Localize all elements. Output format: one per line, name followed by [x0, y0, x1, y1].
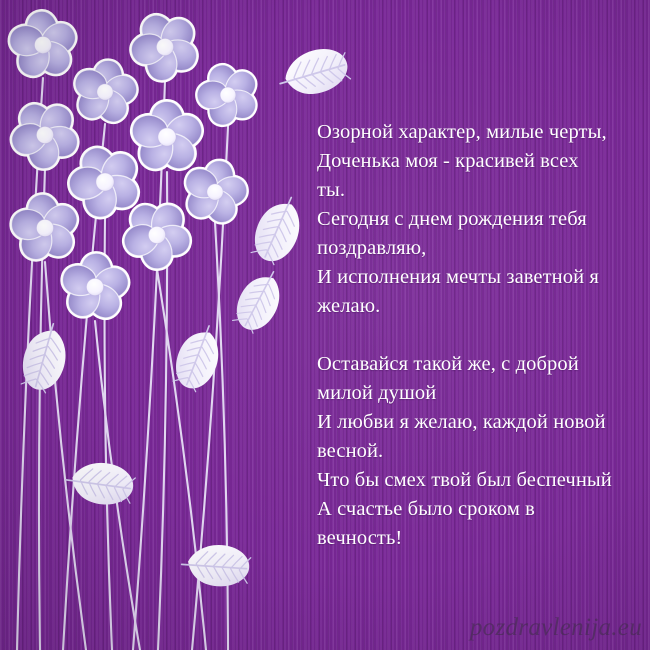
leaf-body [227, 268, 290, 337]
verse-line: милой душой [317, 379, 635, 408]
verse-line: желаю. [317, 292, 635, 321]
verse-line: И исполнения мечты заветной я [317, 263, 635, 292]
verse-stanza: Озорной характер, милые черты,Доченька м… [317, 118, 635, 321]
leaf-body [15, 324, 75, 396]
flower-heads [0, 6, 264, 333]
verse-line: Озорной характер, милые черты, [317, 118, 635, 147]
verse-line: поздравляю, [317, 234, 635, 263]
verse-stanza: Оставайся такой же, с доброймилой душойИ… [317, 350, 635, 553]
verse-line: Что бы смех твой был беспечный [317, 466, 635, 495]
verse-line: ты. [317, 176, 635, 205]
verse-line: весной. [317, 437, 635, 466]
site-watermark: pozdravlenija.eu [470, 614, 642, 642]
verse-line: вечность! [317, 524, 635, 553]
greeting-card: Озорной характер, милые черты,Доченька м… [0, 0, 650, 650]
leaf-body [245, 195, 310, 269]
leaf [245, 190, 313, 269]
flower [4, 191, 83, 269]
greeting-verse: Озорной характер, милые черты,Доченька м… [317, 118, 635, 553]
leaf [227, 263, 293, 337]
leaf [179, 540, 252, 591]
flower [0, 7, 82, 88]
verse-line: Доченька моя - красивей всех [317, 147, 635, 176]
leaf-body [68, 457, 137, 510]
leaf [62, 456, 137, 511]
leaf [275, 44, 352, 101]
verse-line: И любви я желаю, каждой новой [317, 408, 635, 437]
verse-line: Сегодня с днем рождения тебя [317, 205, 635, 234]
leaf-body [167, 324, 228, 395]
verse-line: А счастье было сроком в [317, 495, 635, 524]
leaf [14, 318, 76, 396]
verse-line: Оставайся такой же, с доброй [317, 350, 635, 379]
